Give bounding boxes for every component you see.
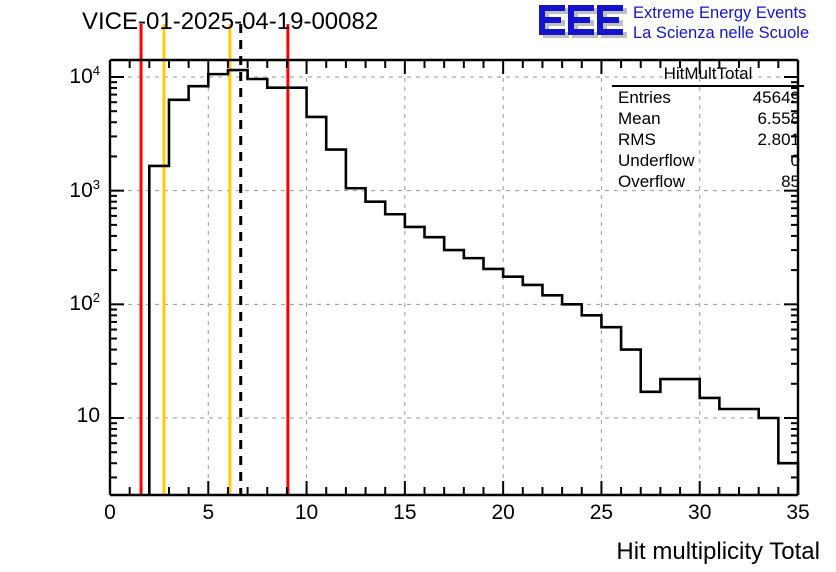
stat-value: 85 (781, 172, 800, 192)
stat-label: Underflow (618, 151, 695, 171)
stat-row: Overflow 85 (612, 172, 804, 192)
x-tick-label: 10 (277, 501, 337, 525)
y-tick-label: 10 (77, 404, 100, 428)
stat-value: 0 (791, 151, 800, 171)
stat-row: RMS 2.801 (612, 130, 804, 150)
x-tick-label: 0 (80, 501, 140, 525)
logo-line-2: La Scienza nelle Scuole (633, 23, 809, 43)
y-tick-label: 102 (69, 290, 100, 316)
logo-line-1: Extreme Energy Events (633, 3, 809, 23)
stats-box: HitMultTotal Entries 45649 Mean 6.558 RM… (612, 64, 804, 192)
x-tick-label: 15 (375, 501, 435, 525)
stat-label: Mean (618, 109, 661, 129)
page-title: VICE-01-2025-04-19-00082 (82, 8, 378, 36)
stat-row: Underflow 0 (612, 151, 804, 171)
stats-box-title: HitMultTotal (612, 64, 804, 87)
stat-value: 2.801 (757, 130, 800, 150)
eee-mark-icon (537, 4, 627, 42)
threshold-marker-lines (141, 24, 288, 495)
y-tick-label: 103 (69, 177, 100, 203)
stat-label: Entries (618, 88, 671, 108)
x-tick-label: 30 (670, 501, 730, 525)
x-tick-label: 5 (178, 501, 238, 525)
stat-label: Overflow (618, 172, 685, 192)
y-tick-label: 104 (69, 63, 100, 89)
stat-value: 6.558 (757, 109, 800, 129)
x-axis-title: Hit multiplicity Total (616, 538, 820, 566)
x-tick-label: 35 (768, 501, 828, 525)
eee-logo: Extreme Energy Events La Scienza nelle S… (537, 2, 836, 44)
x-tick-label: 25 (571, 501, 631, 525)
stat-row: Entries 45649 (612, 88, 804, 108)
stat-value: 45649 (753, 88, 800, 108)
stat-label: RMS (618, 130, 656, 150)
stat-row: Mean 6.558 (612, 109, 804, 129)
x-tick-label: 20 (473, 501, 533, 525)
